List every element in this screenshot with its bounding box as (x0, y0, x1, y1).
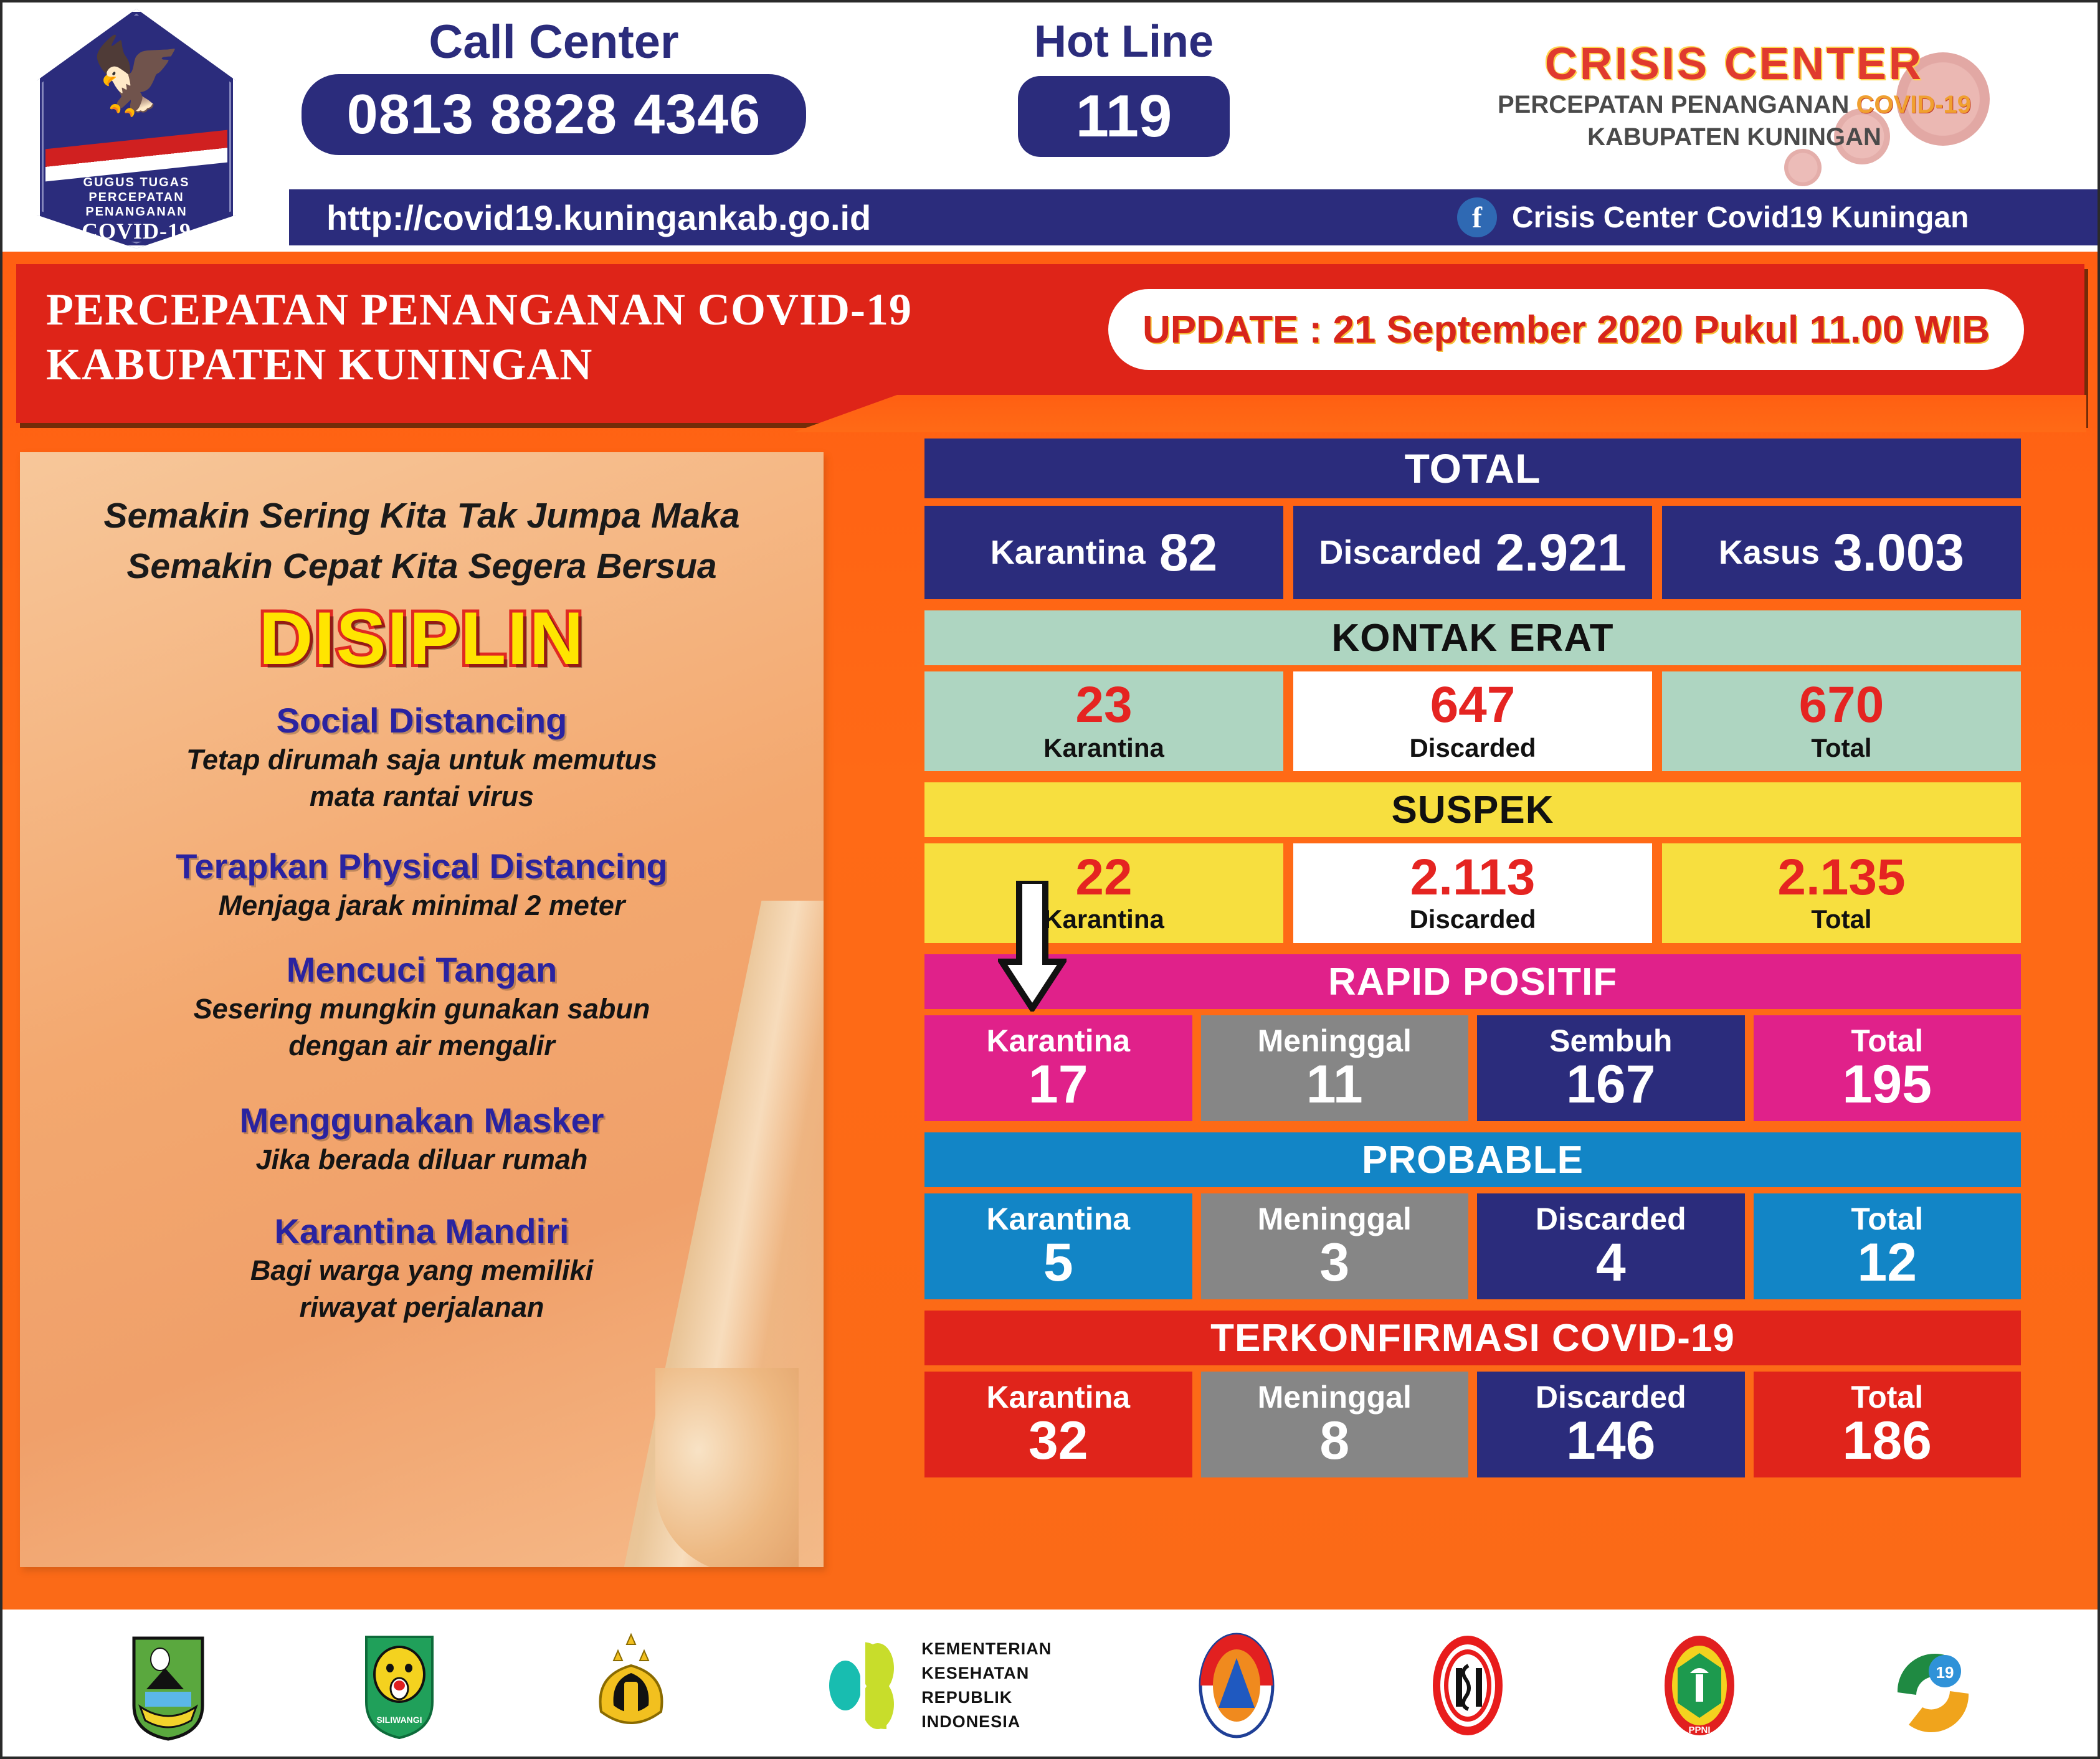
tip-item-physical-distancing: Terapkan Physical Distancing Menjaga jar… (20, 847, 824, 923)
tip-body-line-1: Tetap dirumah saja untuk memutus (20, 743, 824, 777)
stat-row: Karantina 32 Meninggal 8 Discarded 146 T… (924, 1372, 2021, 1477)
shield-line-1: GUGUS TUGAS (37, 176, 236, 191)
stat-cell-kasus: Kasus 3.003 (1662, 506, 2021, 599)
stat-block-kontak-erat: KONTAK ERAT 23 Karantina 647 Discarded 6… (924, 610, 2021, 771)
stat-cell-meninggal: Meninggal 11 (1201, 1015, 1469, 1121)
stat-value: 11 (1306, 1058, 1363, 1111)
stat-label: Discarded (1536, 1382, 1686, 1413)
hotline-number: 119 (1076, 82, 1172, 151)
update-pill: UPDATE : 21 September 2020 Pukul 11.00 W… (1108, 289, 2024, 370)
stat-value: 8 (1319, 1414, 1349, 1467)
tip-body-line-2: riwayat perjalanan (20, 1291, 824, 1325)
gugus-tugas-shield-logo: 🦅 GUGUS TUGAS PERCEPATAN PENANGANAN COVI… (37, 9, 236, 249)
tip-item-mencuci-tangan: Mencuci Tangan Sesering mungkin gunakan … (20, 951, 824, 1063)
disiplin-headline: DISIPLIN (20, 595, 824, 681)
siliwangi-logo: SILIWANGI (353, 1629, 446, 1742)
ppni-logo: PPNI (1653, 1629, 1746, 1742)
stat-label: Total (1811, 733, 1871, 763)
stat-value: 2.135 (1777, 852, 1905, 903)
stat-value: 12 (1857, 1236, 1917, 1289)
stat-cell-total: 670 Total (1662, 671, 2021, 771)
stat-block-heading: TERKONFIRMASI COVID-19 (924, 1311, 2021, 1365)
tip-item-masker: Menggunakan Masker Jika berada diluar ru… (20, 1101, 824, 1177)
stat-value: 82 (1159, 523, 1217, 583)
stat-cell-karantina: Karantina 17 (924, 1015, 1192, 1121)
tip-body-line-2: dengan air mengalir (20, 1029, 824, 1063)
page-curl-decoration (655, 1368, 799, 1567)
stat-block-total: TOTAL Karantina 82 Discarded 2.921 Kasus… (924, 439, 2021, 599)
facebook-page-name: Crisis Center Covid19 Kuningan (1512, 201, 1969, 235)
stat-row: 22 Karantina 2.113 Discarded 2.135 Total (924, 843, 2021, 943)
hotline-pill[interactable]: 119 (1018, 76, 1230, 157)
stat-value: 186 (1843, 1414, 1932, 1467)
stat-label: Karantina (986, 1025, 1130, 1056)
slogan-line-2: Semakin Cepat Kita Segera Bersua (20, 541, 824, 592)
tip-item-karantina-mandiri: Karantina Mandiri Bagi warga yang memili… (20, 1212, 824, 1325)
svg-text:PPNI: PPNI (1688, 1725, 1710, 1735)
stat-cell-karantina: Karantina 5 (924, 1193, 1192, 1299)
statistics-column: TOTAL Karantina 82 Discarded 2.921 Kasus… (924, 439, 2021, 1489)
stat-cell-total: Total 12 (1754, 1193, 2022, 1299)
down-arrow-icon (998, 881, 1067, 1012)
tip-heading: Karantina Mandiri (20, 1212, 824, 1251)
kemenkes-label: KEMENTERIAN KESEHATAN REPUBLIK INDONESIA (921, 1637, 1052, 1735)
slogan-line-1: Semakin Sering Kita Tak Jumpa Maka (20, 491, 824, 541)
stat-block-heading: SUSPEK (924, 782, 2021, 837)
garuda-icon: 🦅 (90, 39, 183, 113)
stat-cell-discarded: 2.113 Discarded (1293, 843, 1652, 943)
kemenkes-logo: KEMENTERIAN KESEHATAN REPUBLIK INDONESIA (815, 1634, 1052, 1737)
stat-value: 4 (1596, 1236, 1626, 1289)
tip-heading: Terapkan Physical Distancing (20, 847, 824, 886)
stat-value: 146 (1566, 1414, 1656, 1467)
stat-cell-meninggal: Meninggal 3 (1201, 1193, 1469, 1299)
stat-block-heading: RAPID POSITIF (924, 954, 2021, 1009)
kemenkes-line-3: REPUBLIK (921, 1686, 1052, 1710)
stat-label: Karantina (986, 1382, 1130, 1413)
stat-block-heading: PROBABLE (924, 1132, 2021, 1187)
virus-particle-icon (1784, 149, 1822, 186)
facebook-bar[interactable]: f Crisis Center Covid19 Kuningan (1438, 189, 2099, 245)
stat-label: Karantina (1043, 733, 1164, 763)
stat-cell-karantina: Karantina 82 (924, 506, 1283, 599)
stat-cell-discarded: Discarded 146 (1477, 1372, 1745, 1477)
stat-row: Karantina 17 Meninggal 11 Sembuh 167 Tot… (924, 1015, 2021, 1121)
stat-label: Meninggal (1258, 1203, 1412, 1235)
website-url-bar[interactable]: http://covid19.kuningankab.go.id (289, 189, 1438, 245)
stat-label: Total (1811, 904, 1871, 934)
stat-label: Meninggal (1258, 1025, 1412, 1056)
stat-block-probable: PROBABLE Karantina 5 Meninggal 3 Discard… (924, 1132, 2021, 1299)
kemenkes-line-1: KEMENTERIAN (921, 1637, 1052, 1661)
crisis-subtitle-text: PERCEPATAN PENANGANAN (1498, 91, 1856, 118)
stat-block-suspek: SUSPEK 22 Karantina 2.113 Discarded 2.13… (924, 782, 2021, 943)
stat-value: 670 (1799, 680, 1884, 731)
stat-row: 23 Karantina 647 Discarded 670 Total (924, 671, 2021, 771)
banner-title-line-1: PERCEPATAN PENANGANAN COVID-19 (46, 283, 1105, 338)
hotline-label: Hot Line (974, 16, 1273, 67)
banner-title-line-2: KABUPATEN KUNINGAN (46, 338, 1105, 392)
stat-label: Discarded (1536, 1203, 1686, 1235)
covid-infographic-poster: 🦅 GUGUS TUGAS PERCEPATAN PENANGANAN COVI… (0, 0, 2100, 1759)
crisis-center-block: CRISIS CENTER PERCEPATAN PENANGANAN COVI… (1485, 15, 1984, 177)
stat-value: 2.921 (1495, 523, 1626, 583)
stat-cell-discarded: Discarded 4 (1477, 1193, 1745, 1299)
stat-cell-karantina: Karantina 32 (924, 1372, 1192, 1477)
footer-logos: SILIWANGI K (2, 1610, 2100, 1759)
stat-cell-total: Total 186 (1754, 1372, 2022, 1477)
crisis-subtitle-covid: COVID-19 (1856, 91, 1972, 118)
tip-heading: Menggunakan Masker (20, 1101, 824, 1140)
polri-logo (584, 1629, 678, 1742)
stat-value: 17 (1029, 1058, 1088, 1111)
stat-cell-discarded: 647 Discarded (1293, 671, 1652, 771)
website-url: http://covid19.kuningankab.go.id (289, 197, 871, 238)
banner-title: PERCEPATAN PENANGANAN COVID-19 KABUPATEN… (46, 283, 1105, 392)
stat-value: 22 (1075, 852, 1132, 903)
stat-value: 647 (1430, 680, 1516, 731)
kabupaten-kuningan-logo (121, 1629, 215, 1742)
crisis-center-subtitle-1: PERCEPATAN PENANGANAN COVID-19 (1485, 91, 1984, 119)
bnpb-logo (1190, 1629, 1283, 1742)
stat-label: Total (1851, 1382, 1923, 1413)
stat-cell-total: 2.135 Total (1662, 843, 2021, 943)
covid19-task-force-logo: 19 (1884, 1633, 1984, 1738)
stat-cell-sembuh: Sembuh 167 (1477, 1015, 1745, 1121)
stat-block-terkonfirmasi: TERKONFIRMASI COVID-19 Karantina 32 Meni… (924, 1311, 2021, 1477)
stat-block-rapid-positif: RAPID POSITIF Karantina 17 Meninggal 11 … (924, 954, 2021, 1121)
stat-value: 2.113 (1410, 852, 1536, 903)
stat-block-heading: KONTAK ERAT (924, 610, 2021, 665)
stat-cell-discarded: Discarded 2.921 (1293, 506, 1652, 599)
stat-value: 167 (1566, 1058, 1656, 1111)
stat-cell-total: Total 195 (1754, 1015, 2022, 1121)
stat-value: 5 (1043, 1236, 1073, 1289)
stat-value: 23 (1075, 680, 1132, 731)
svg-text:SILIWANGI: SILIWANGI (377, 1715, 422, 1725)
tip-body-line-2: mata rantai virus (20, 780, 824, 814)
stat-cell-karantina: 22 Karantina (924, 843, 1283, 943)
stat-label: Meninggal (1258, 1382, 1412, 1413)
tip-heading: Mencuci Tangan (20, 951, 824, 990)
tip-item-social-distancing: Social Distancing Tetap dirumah saja unt… (20, 701, 824, 814)
stat-label: Kasus (1719, 533, 1820, 572)
banner-notch (794, 395, 2086, 432)
stat-label: Discarded (1409, 733, 1536, 763)
covid-badge-number: 19 (1936, 1663, 1954, 1682)
stat-value: 3 (1319, 1236, 1349, 1289)
tip-body-line-1: Jika berada diluar rumah (20, 1143, 824, 1177)
kemenkes-line-4: INDONESIA (921, 1710, 1052, 1734)
stat-cell-karantina: 23 Karantina (924, 671, 1283, 771)
update-timestamp: UPDATE : 21 September 2020 Pukul 11.00 W… (1143, 308, 1990, 352)
stat-value: 195 (1843, 1058, 1932, 1111)
shield-logo-lines: GUGUS TUGAS PERCEPATAN PENANGANAN (37, 176, 236, 220)
slogan: Semakin Sering Kita Tak Jumpa Maka Semak… (20, 491, 824, 592)
call-center-number: 0813 8828 4346 (347, 83, 761, 147)
stat-label: Discarded (1409, 904, 1536, 934)
tip-heading: Social Distancing (20, 701, 824, 741)
prevention-tips-card: Semakin Sering Kita Tak Jumpa Maka Semak… (20, 452, 824, 1567)
stat-label: Discarded (1319, 533, 1481, 572)
stat-block-heading: TOTAL (924, 439, 2021, 498)
stat-row: Karantina 82 Discarded 2.921 Kasus 3.003 (924, 506, 2021, 599)
tip-body-line-1: Bagi warga yang memiliki (20, 1254, 824, 1288)
call-center-pill[interactable]: 0813 8828 4346 (302, 74, 806, 155)
crisis-center-subtitle-2: KABUPATEN KUNINGAN (1485, 123, 1984, 151)
facebook-icon: f (1457, 197, 1497, 237)
call-center-label: Call Center (302, 15, 806, 69)
stat-label: Karantina (986, 1203, 1130, 1235)
stat-label: Sembuh (1549, 1025, 1672, 1056)
tip-body-line-1: Menjaga jarak minimal 2 meter (20, 889, 824, 923)
header: 🦅 GUGUS TUGAS PERCEPATAN PENANGANAN COVI… (2, 2, 2100, 252)
stat-label: Total (1851, 1025, 1923, 1056)
tip-body-line-1: Sesering mungkin gunakan sabun (20, 992, 824, 1026)
stat-cell-meninggal: Meninggal 8 (1201, 1372, 1469, 1477)
stat-value: 3.003 (1833, 523, 1964, 583)
stat-row: Karantina 5 Meninggal 3 Discarded 4 Tota… (924, 1193, 2021, 1299)
shield-line-2: PERCEPATAN (37, 191, 236, 206)
stat-label: Total (1851, 1203, 1923, 1235)
kemenkes-line-2: KESEHATAN (921, 1661, 1052, 1686)
crisis-center-title: CRISIS CENTER (1485, 39, 1984, 90)
idi-logo (1421, 1629, 1514, 1742)
stat-label: Karantina (991, 533, 1146, 572)
stat-value: 32 (1029, 1414, 1088, 1467)
shield-covid-label: COVID-19 (37, 218, 236, 244)
